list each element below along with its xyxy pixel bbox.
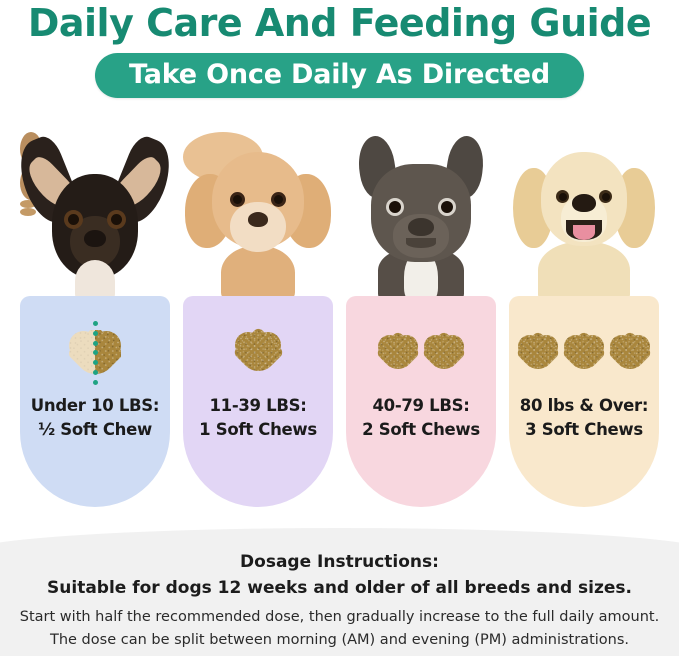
dog-mouth (406, 238, 436, 248)
dog-chest (538, 242, 630, 302)
dosage-column-11-39-lbs: 11-39 LBS: 1 Soft Chews (183, 130, 333, 515)
heart-chew-icon (235, 332, 281, 374)
dose-amount-1: ½ Soft Chew (20, 418, 170, 442)
dosage-column-under-10-lbs: Under 10 LBS: ½ Soft Chew (20, 130, 170, 515)
footer-subtitle: Suitable for dogs 12 weeks and older of … (0, 576, 679, 601)
french-bulldog-photo (346, 130, 496, 302)
dosage-card-4: 80 lbs & Over: 3 Soft Chews (509, 296, 659, 507)
chew-group-3 (346, 324, 496, 382)
dosage-column-80-lbs-and-over: 80 lbs & Over: 3 Soft Chews (509, 130, 659, 515)
chew-group-1 (20, 324, 170, 382)
heart-chew-icon (424, 335, 464, 372)
dog-eye-left (64, 210, 83, 229)
weight-range-1: Under 10 LBS: (31, 396, 159, 415)
dose-amount-3: 2 Soft Chews (346, 418, 496, 442)
dosage-card-2: 11-39 LBS: 1 Soft Chews (183, 296, 333, 507)
dog-eye-left (230, 192, 245, 207)
heart-chew-icon (564, 335, 604, 372)
dosage-card-1: Under 10 LBS: ½ Soft Chew (20, 296, 170, 507)
dog-eye-right (438, 198, 456, 216)
heart-chew-icon (610, 335, 650, 372)
dosage-instructions-footer: Dosage Instructions: Suitable for dogs 1… (0, 528, 679, 656)
dog-muzzle (230, 202, 286, 252)
half-heart-chew-icon (69, 330, 121, 376)
golden-retriever-photo (509, 130, 659, 302)
dose-amount-4: 3 Soft Chews (509, 418, 659, 442)
weight-range-3: 40-79 LBS: (372, 396, 469, 415)
footer-title: Dosage Instructions: (0, 550, 679, 576)
dog-eye-right (599, 190, 612, 203)
weight-range-2: 11-39 LBS: (209, 396, 306, 415)
dosage-label-4: 80 lbs & Over: 3 Soft Chews (509, 394, 659, 442)
chew-group-2 (183, 324, 333, 382)
dog-chest (221, 246, 295, 302)
chihuahua-photo (20, 130, 170, 302)
footer-note-line-2: The dose can be split between morning (A… (0, 629, 679, 651)
heart-chew-icon (518, 335, 558, 372)
directions-pill: Take Once Daily As Directed (95, 53, 584, 98)
dose-amount-2: 1 Soft Chews (183, 418, 333, 442)
dog-eye-right (107, 210, 126, 229)
dog-eye-right (271, 192, 286, 207)
dosage-label-2: 11-39 LBS: 1 Soft Chews (183, 394, 333, 442)
dog-tongue (573, 225, 595, 240)
poodle-photo (183, 130, 333, 302)
dog-nose (84, 230, 106, 247)
dog-nose (408, 218, 434, 236)
dog-nose (572, 194, 596, 212)
dog-nose (248, 212, 268, 227)
dosage-label-1: Under 10 LBS: ½ Soft Chew (20, 394, 170, 442)
split-dotted-line-icon (93, 321, 98, 385)
header: Daily Care And Feeding Guide Take Once D… (0, 0, 679, 98)
dosage-columns: Under 10 LBS: ½ Soft Chew (0, 130, 679, 515)
dosage-label-3: 40-79 LBS: 2 Soft Chews (346, 394, 496, 442)
dog-eye-left (386, 198, 404, 216)
weight-range-4: 80 lbs & Over: (520, 396, 648, 415)
page-title: Daily Care And Feeding Guide (0, 0, 679, 45)
footer-note-line-1: Start with half the recommended dose, th… (0, 606, 679, 628)
heart-chew-icon (378, 335, 418, 372)
dosage-column-40-79-lbs: 40-79 LBS: 2 Soft Chews (346, 130, 496, 515)
chew-group-4 (509, 324, 659, 382)
dog-eye-left (556, 190, 569, 203)
dosage-card-3: 40-79 LBS: 2 Soft Chews (346, 296, 496, 507)
